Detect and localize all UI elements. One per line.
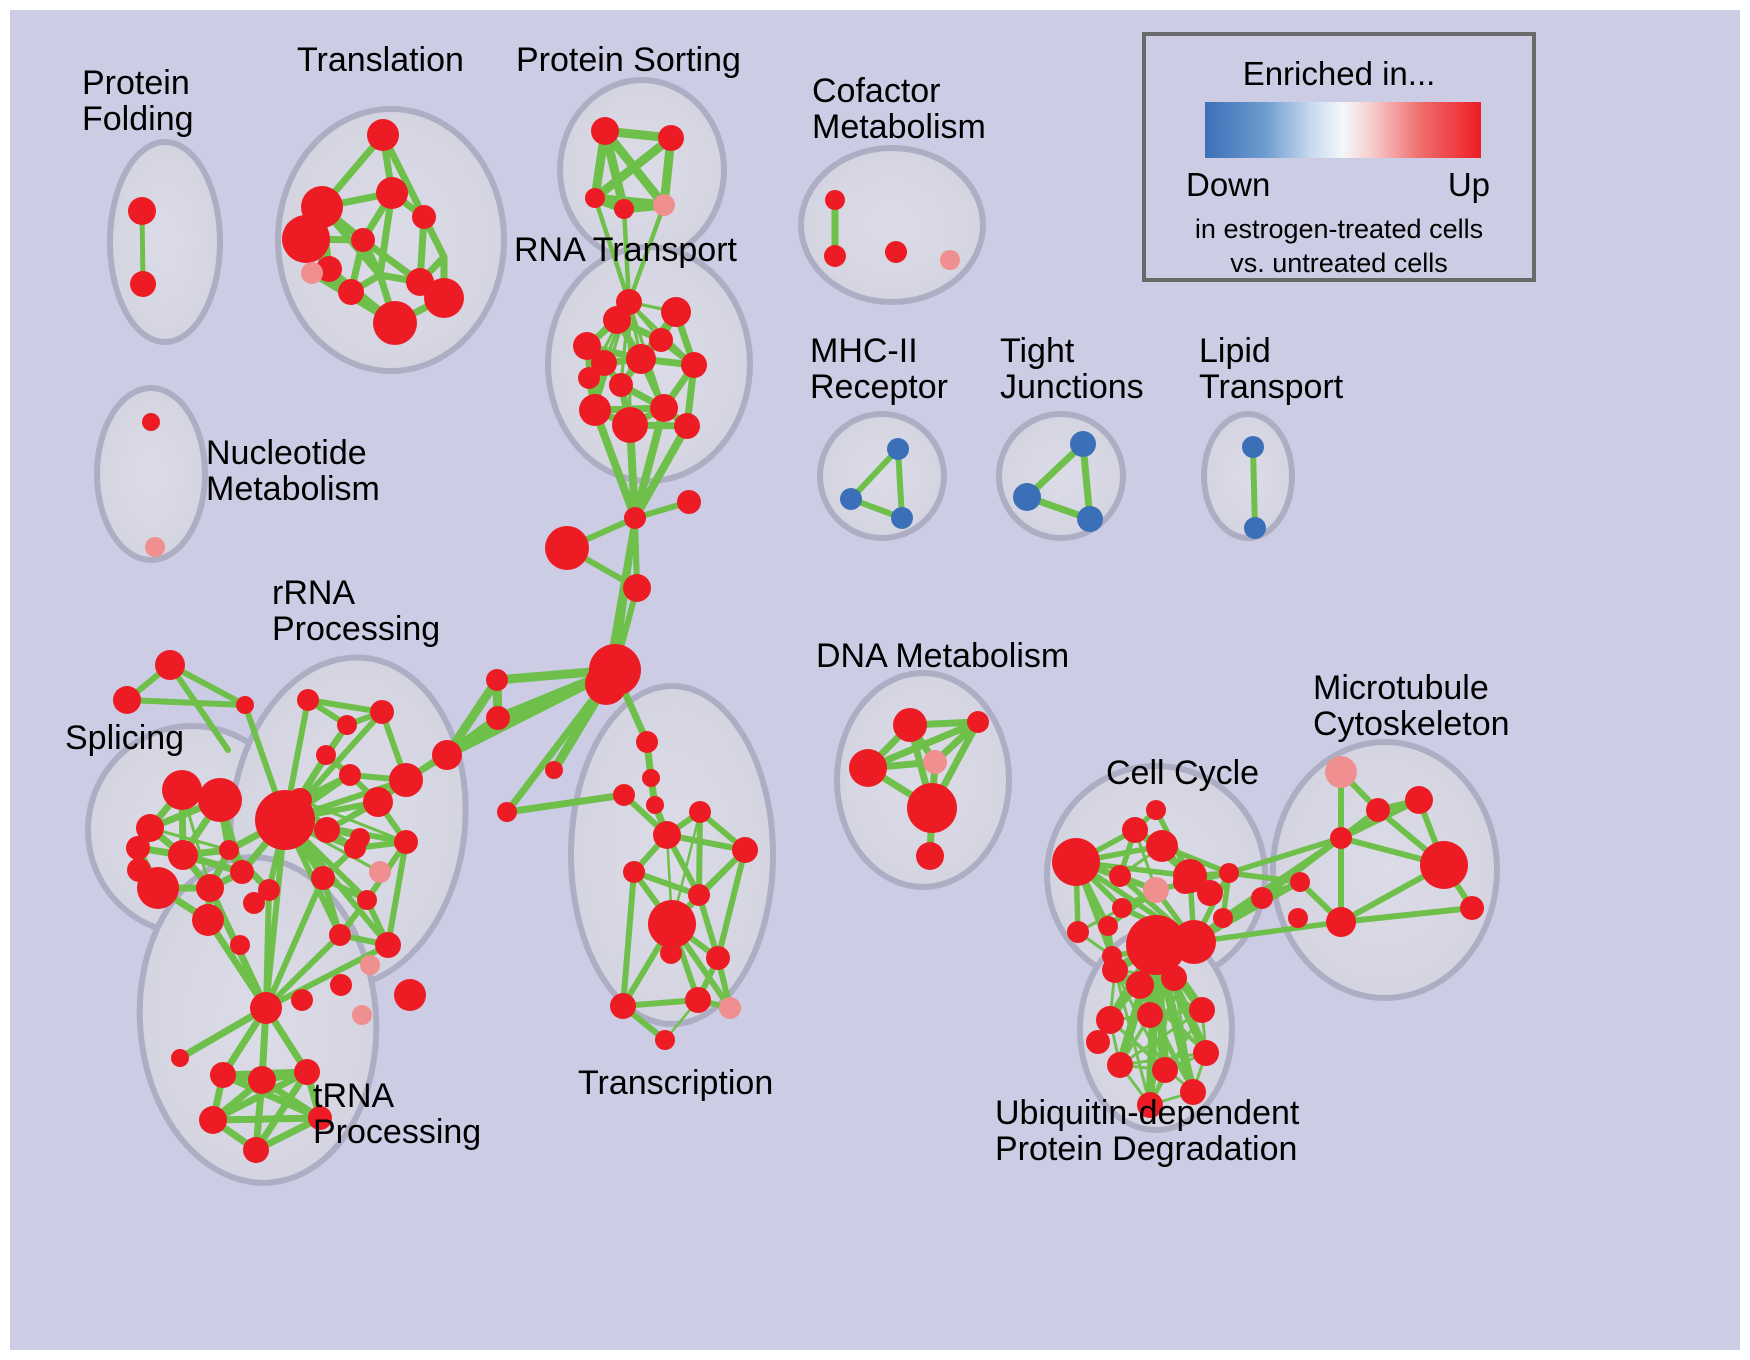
legend-low-label: Down bbox=[1186, 166, 1270, 204]
hull-cofactor bbox=[801, 148, 983, 302]
cluster-label-protein-folding: Protein Folding bbox=[82, 65, 194, 137]
cluster-label-microtubule-cytoskeleton: Microtubule Cytoskeleton bbox=[1313, 670, 1510, 742]
legend-panel: Enriched in... Down Up in estrogen-treat… bbox=[1142, 32, 1536, 282]
cluster-label-mhc-ii-receptor: MHC-II Receptor bbox=[810, 333, 948, 405]
cluster-label-protein-sorting: Protein Sorting bbox=[516, 42, 741, 78]
cluster-label-transcription: Transcription bbox=[578, 1065, 773, 1101]
cluster-label-rna-transport: RNA Transport bbox=[514, 232, 737, 268]
legend-high-label: Up bbox=[1448, 166, 1490, 204]
figure-root: Protein Folding Translation Protein Sort… bbox=[0, 0, 1750, 1360]
cluster-label-cofactor-metabolism: Cofactor Metabolism bbox=[812, 73, 986, 145]
cluster-label-lipid-transport: Lipid Transport bbox=[1199, 333, 1343, 405]
cluster-label-translation: Translation bbox=[297, 42, 464, 78]
cluster-label-rrna-processing: rRNA Processing bbox=[272, 575, 440, 647]
hull-mhc bbox=[820, 414, 944, 538]
cluster-label-ubiquitin-protein-degradation: Ubiquitin-dependent Protein Degradation bbox=[995, 1095, 1299, 1167]
hull-tight bbox=[999, 414, 1123, 538]
cluster-label-splicing: Splicing bbox=[65, 720, 184, 756]
hull-lipid bbox=[1204, 414, 1292, 538]
legend-caption-line1: in estrogen-treated cells bbox=[1146, 214, 1532, 245]
cluster-label-cell-cycle: Cell Cycle bbox=[1106, 755, 1259, 791]
cluster-label-dna-metabolism: DNA Metabolism bbox=[816, 638, 1069, 674]
network-canvas: Protein Folding Translation Protein Sort… bbox=[10, 10, 1740, 1350]
cluster-label-trna-processing: tRNA Processing bbox=[313, 1078, 481, 1150]
legend-caption-line2: vs. untreated cells bbox=[1146, 248, 1532, 279]
hull-protein-folding bbox=[110, 142, 220, 342]
cluster-label-nucleotide-metabolism: Nucleotide Metabolism bbox=[206, 435, 380, 507]
cluster-label-tight-junctions: Tight Junctions bbox=[1000, 333, 1144, 405]
legend-title: Enriched in... bbox=[1146, 55, 1532, 93]
legend-color-gradient-bar bbox=[1205, 102, 1481, 158]
